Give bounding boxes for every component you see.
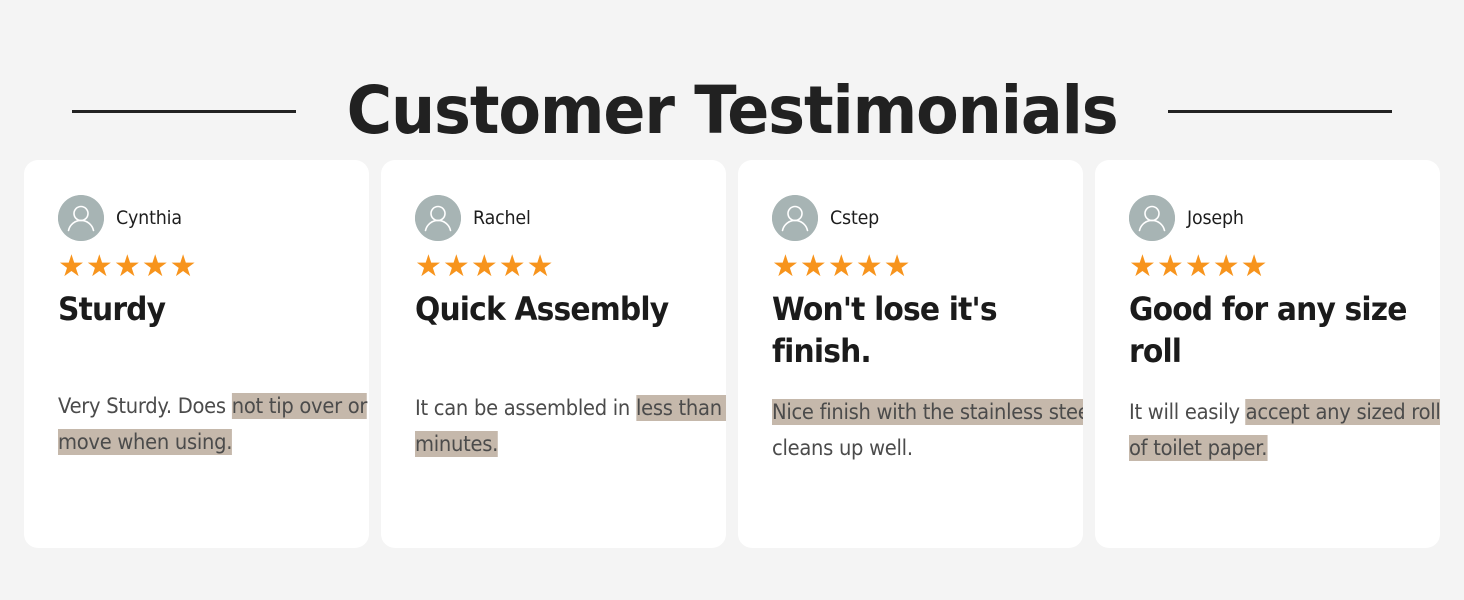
user-avatar-icon: [1129, 195, 1175, 241]
star-icon: ★: [471, 252, 498, 282]
reviewer-name: Joseph: [1187, 207, 1244, 229]
star-rating: ★ ★ ★ ★ ★: [772, 252, 1049, 282]
star-icon: ★: [856, 252, 883, 282]
testimonial-card[interactable]: Joseph ★ ★ ★ ★ ★ Good for any size roll …: [1095, 160, 1440, 548]
star-icon: ★: [415, 252, 442, 282]
star-rating: ★ ★ ★ ★ ★: [415, 252, 692, 282]
user-avatar-icon: [58, 195, 104, 241]
review-body: It will easily accept any sized roll of …: [1129, 394, 1440, 466]
review-body: Nice finish with the stainless steel, cl…: [772, 394, 1083, 466]
testimonial-card-list: Cynthia ★ ★ ★ ★ ★ Sturdy Very Sturdy. Do…: [24, 160, 1440, 548]
review-headline: Sturdy: [58, 288, 336, 330]
star-icon: ★: [499, 252, 526, 282]
star-icon: ★: [443, 252, 470, 282]
star-icon: ★: [772, 252, 799, 282]
reviewer-row: Rachel: [415, 192, 692, 244]
user-avatar-icon: [415, 195, 461, 241]
star-icon: ★: [884, 252, 911, 282]
star-rating: ★ ★ ★ ★ ★: [1129, 252, 1406, 282]
highlighted-text: not tip over or move when using.: [58, 393, 367, 455]
header-rule-left: [72, 110, 296, 113]
testimonial-card[interactable]: Cynthia ★ ★ ★ ★ ★ Sturdy Very Sturdy. Do…: [24, 160, 369, 548]
highlighted-text: accept any sized roll of toilet paper.: [1129, 399, 1440, 461]
page-title: Customer Testimonials: [347, 78, 1118, 144]
star-icon: ★: [86, 252, 113, 282]
star-icon: ★: [800, 252, 827, 282]
star-icon: ★: [114, 252, 141, 282]
reviewer-name: Rachel: [473, 207, 531, 229]
highlighted-text: Nice finish with the stainless steel,: [772, 399, 1083, 425]
star-icon: ★: [1157, 252, 1184, 282]
review-body: Very Sturdy. Does not tip over or move w…: [58, 388, 369, 460]
star-icon: ★: [1129, 252, 1156, 282]
header-rule-right: [1168, 110, 1392, 113]
star-icon: ★: [170, 252, 197, 282]
star-icon: ★: [828, 252, 855, 282]
reviewer-name: Cstep: [830, 207, 879, 229]
reviewer-row: Cstep: [772, 192, 1049, 244]
star-icon: ★: [1185, 252, 1212, 282]
review-headline: Good for any size roll: [1129, 288, 1407, 372]
review-headline: Quick Assembly: [415, 288, 693, 330]
star-icon: ★: [1213, 252, 1240, 282]
star-rating: ★ ★ ★ ★ ★: [58, 252, 335, 282]
star-icon: ★: [58, 252, 85, 282]
star-icon: ★: [142, 252, 169, 282]
reviewer-row: Cynthia: [58, 192, 335, 244]
review-headline: Won't lose it's finish.: [772, 288, 1050, 372]
testimonial-card[interactable]: Cstep ★ ★ ★ ★ ★ Won't lose it's finish. …: [738, 160, 1083, 548]
review-body: It can be assembled in less than 2 minut…: [415, 390, 726, 462]
page-header: Customer Testimonials: [0, 66, 1464, 156]
user-avatar-icon: [772, 195, 818, 241]
reviewer-row: Joseph: [1129, 192, 1406, 244]
highlighted-text: less than 2 minutes.: [415, 395, 726, 457]
star-icon: ★: [527, 252, 554, 282]
reviewer-name: Cynthia: [116, 207, 182, 229]
testimonial-card[interactable]: Rachel ★ ★ ★ ★ ★ Quick Assembly It can b…: [381, 160, 726, 548]
star-icon: ★: [1241, 252, 1268, 282]
testimonials-page: Customer Testimonials Cynthia ★ ★ ★ ★ ★ …: [0, 0, 1464, 600]
